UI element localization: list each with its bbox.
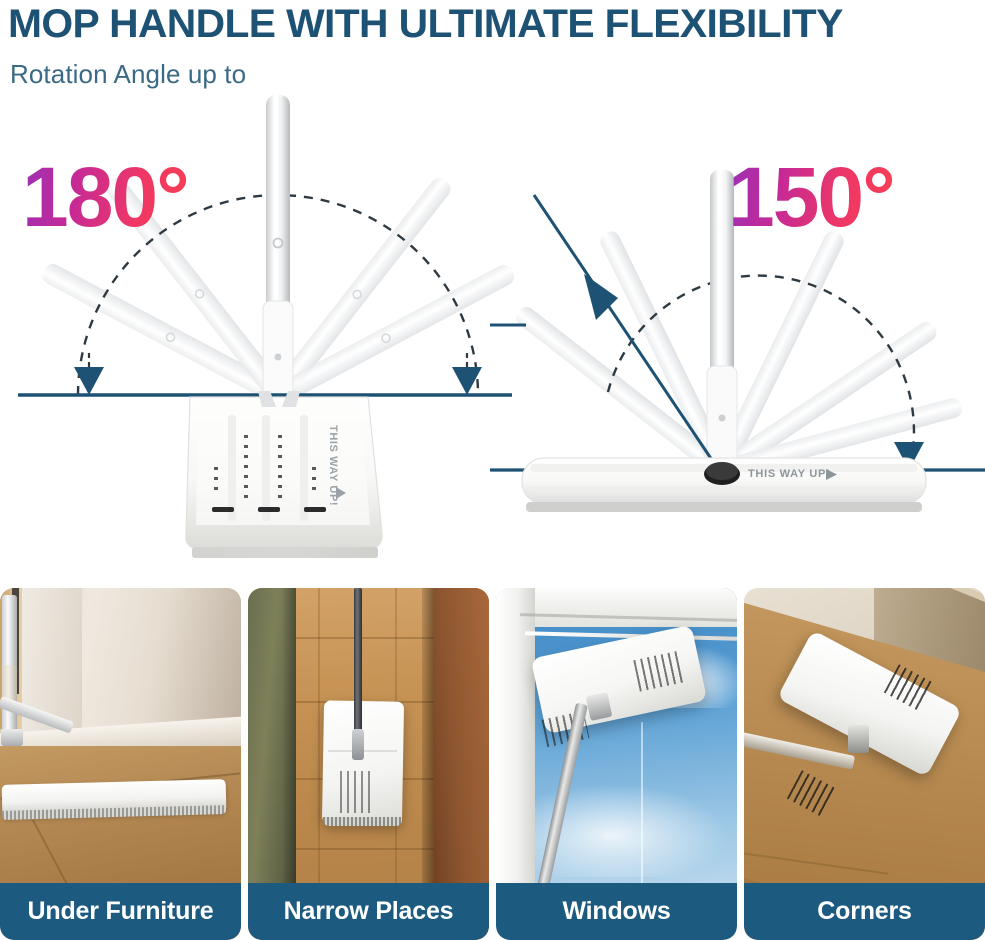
infographic-page: MOP HANDLE WITH ULTIMATE FLEXIBILITY Rot… bbox=[0, 0, 985, 940]
angle-label-180: 180° bbox=[22, 155, 188, 239]
mop-head-marking-150: THIS WAY UP! bbox=[748, 468, 830, 480]
panel-caption-under-furniture: Under Furniture bbox=[0, 883, 241, 940]
rotation-arrow-line bbox=[534, 195, 716, 466]
panel-caption-narrow-places: Narrow Places bbox=[248, 883, 489, 940]
mop-head-sideview: THIS WAY UP! bbox=[522, 458, 926, 512]
panel-narrow-places[interactable]: Narrow Places bbox=[248, 588, 489, 940]
page-title: MOP HANDLE WITH ULTIMATE FLEXIBILITY bbox=[8, 2, 985, 46]
panel-under-furniture[interactable]: Under Furniture bbox=[0, 588, 241, 940]
page-subtitle: Rotation Angle up to bbox=[10, 58, 246, 90]
microfibre-pad-150 bbox=[526, 502, 922, 512]
main-handle bbox=[263, 95, 293, 400]
use-case-panels: Under Furniture bbox=[0, 588, 985, 940]
panel-corners[interactable]: Corners bbox=[744, 588, 985, 940]
panel-windows[interactable]: Windows bbox=[496, 588, 737, 940]
mop-head-topdown: THIS WAY UP! bbox=[186, 391, 382, 558]
panel-caption-windows: Windows bbox=[496, 883, 737, 940]
angle-label-150: 150° bbox=[728, 155, 894, 239]
panel-caption-corners: Corners bbox=[744, 883, 985, 940]
